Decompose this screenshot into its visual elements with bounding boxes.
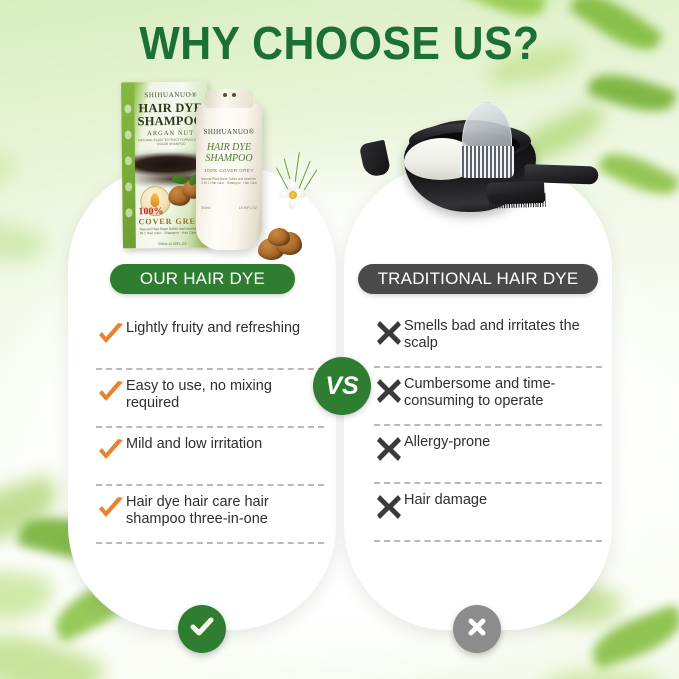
- feature-list-ours: Lightly fruity and refreshing Easy to us…: [96, 318, 324, 550]
- list-item: Hair damage: [374, 490, 602, 536]
- page-title: WHY CHOOSE US?: [24, 16, 655, 70]
- orange-check-icon: [96, 436, 126, 466]
- list-item-text: Cumbersome and time-consuming to operate: [404, 374, 602, 410]
- gray-x-icon: [374, 376, 404, 406]
- vs-label: VS: [325, 372, 358, 401]
- applicator-body: [462, 102, 512, 162]
- verdict-badge-ours: [178, 605, 226, 653]
- list-item: Lightly fruity and refreshing: [96, 318, 324, 364]
- poster-canvas: WHY CHOOSE US? SHIHUANUO® HAIR DYE SHAMP…: [0, 0, 679, 679]
- list-item: Easy to use, no mixing required: [96, 376, 324, 422]
- list-item-text: Mild and low irritation: [126, 434, 324, 453]
- list-item: Hair dye hair care hair shampoo three-in…: [96, 492, 324, 538]
- x-circle-icon: [462, 612, 492, 647]
- list-item: Allergy-prone: [374, 432, 602, 478]
- list-item: Cumbersome and time-consuming to operate: [374, 374, 602, 420]
- list-item-text: Lightly fruity and refreshing: [126, 318, 324, 337]
- bottle-brand: SHIHUANUO®: [196, 128, 262, 136]
- vs-badge: VS: [313, 357, 371, 415]
- list-separator: [374, 540, 602, 542]
- box-fineprint: NATURAL PLANT EXTRACT FORMULA HAIR COLOR…: [138, 138, 205, 147]
- bowl-inner: [420, 132, 520, 158]
- list-separator: [96, 484, 324, 486]
- list-separator: [96, 368, 324, 370]
- orange-check-icon: [96, 378, 126, 408]
- bowl-rim: [409, 123, 531, 159]
- header-pill-traditional-hair-dye: TRADITIONAL HAIR DYE: [358, 264, 598, 294]
- list-item: Smells bad and irritates the scalp: [374, 316, 602, 362]
- gray-x-icon: [374, 434, 404, 464]
- list-item: Mild and low irritation: [96, 434, 324, 480]
- check-circle-icon: [187, 612, 217, 647]
- box-subtitle: ARGAN NUT: [136, 130, 206, 138]
- gray-x-icon: [374, 492, 404, 522]
- pill-label-ours: OUR HAIR DYE: [140, 269, 265, 289]
- list-item-text: Smells bad and irritates the scalp: [404, 316, 602, 352]
- list-separator: [96, 542, 324, 544]
- list-item-text: Easy to use, no mixing required: [126, 376, 324, 412]
- list-item-text: Allergy-prone: [404, 432, 602, 451]
- list-separator: [96, 426, 324, 428]
- list-separator: [374, 366, 602, 368]
- bottle-title: HAIR DYE SHAMPOO: [196, 142, 262, 164]
- orange-check-icon: [96, 494, 126, 524]
- list-item-text: Hair damage: [404, 490, 602, 509]
- list-separator: [374, 424, 602, 426]
- box-brand: SHIHUANUO®: [137, 91, 204, 100]
- orange-check-icon: [96, 320, 126, 350]
- pill-label-traditional: TRADITIONAL HAIR DYE: [378, 269, 579, 289]
- bottle-cap: [205, 89, 253, 108]
- box-title: HAIR DYE SHAMPOO: [135, 102, 205, 129]
- gray-x-icon: [374, 318, 404, 348]
- list-separator: [374, 482, 602, 484]
- feature-list-traditional: Smells bad and irritates the scalp Cumbe…: [374, 316, 602, 548]
- verdict-badge-traditional: [453, 605, 501, 653]
- list-item-text: Hair dye hair care hair shampoo three-in…: [126, 492, 324, 528]
- bowl-handle: [359, 140, 392, 179]
- header-pill-our-hair-dye: OUR HAIR DYE: [110, 264, 295, 294]
